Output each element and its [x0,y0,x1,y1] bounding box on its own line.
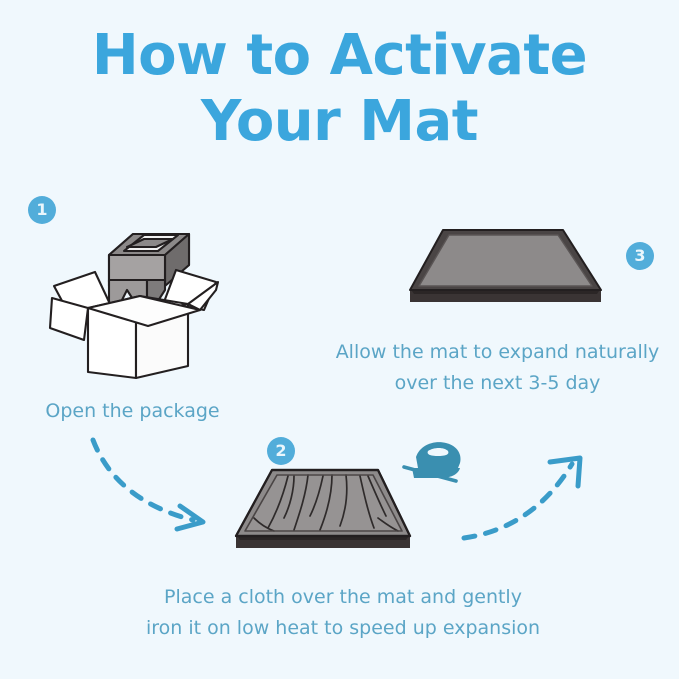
step-3-caption-line-1: Allow the mat to expand naturally [316,337,679,368]
curved-dashed-arrow-up-right [458,448,598,553]
curved-dashed-arrow-down-right [85,432,225,537]
cardboard-box-icon [48,220,223,380]
step-2-caption-line-2: iron it on low heat to speed up expansio… [108,613,578,644]
step-badge-3: 3 [626,242,654,270]
step-1-caption-text: Open the package [45,400,219,422]
wrinkled-mat-icon [228,460,418,560]
step-3-caption: Allow the mat to expand naturally over t… [316,337,679,399]
step-1-caption: Open the package [0,396,265,427]
flat-mat-icon [398,222,613,314]
step-2-caption: Place a cloth over the mat and gently ir… [108,582,578,644]
infographic-canvas: How to Activate Your Mat 1 2 3 [0,0,679,679]
page-title-line-2: Your Mat [0,94,679,150]
page-title-line-1: How to Activate [0,28,679,84]
page-title: How to Activate Your Mat [0,28,679,150]
step-3-caption-line-2: over the next 3-5 day [316,368,679,399]
step-2-caption-line-1: Place a cloth over the mat and gently [108,582,578,613]
